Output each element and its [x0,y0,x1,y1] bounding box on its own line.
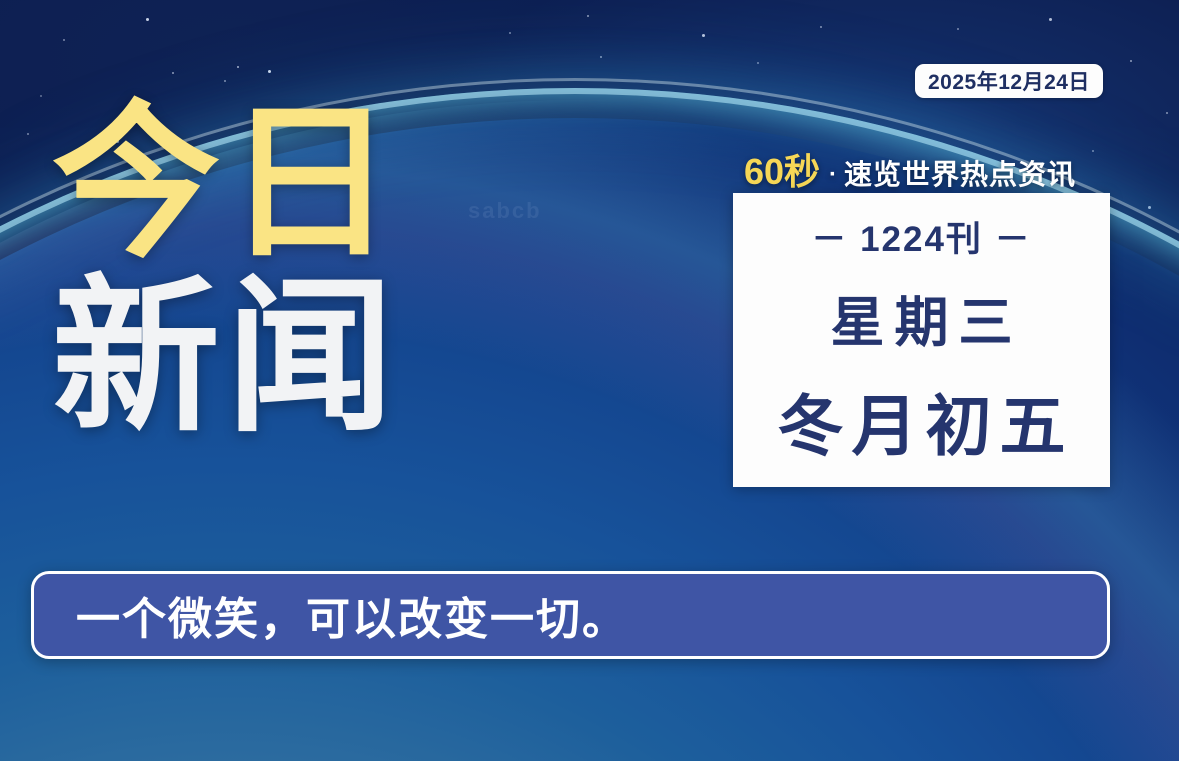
weekday-label: 星期三 [821,278,1023,357]
quote-text: 一个微笑，可以改变一切。 [76,583,628,647]
news-poster: sabcb 今日 新闻 2025年12月24日 60秒 · 速览世界热点资讯 －… [0,0,1179,761]
headline-line-1: 今日 [52,104,482,264]
tagline-separator-icon: · [829,161,837,189]
page-title: 今日 新闻 [52,104,482,437]
tagline-duration: 60秒 [744,143,820,195]
date-info-card: － 1224刊 － 星期三 冬月初五 [733,193,1110,487]
lunar-date-label: 冬月初五 [770,373,1074,469]
tagline-text: 速览世界热点资讯 [844,153,1076,193]
issue-number: － 1224刊 － [811,211,1031,262]
date-badge: 2025年12月24日 [915,64,1103,98]
quote-bar: 一个微笑，可以改变一切。 [31,571,1110,659]
headline-line-2: 新闻 [52,278,482,438]
tagline: 60秒 · 速览世界热点资讯 [744,143,1076,195]
